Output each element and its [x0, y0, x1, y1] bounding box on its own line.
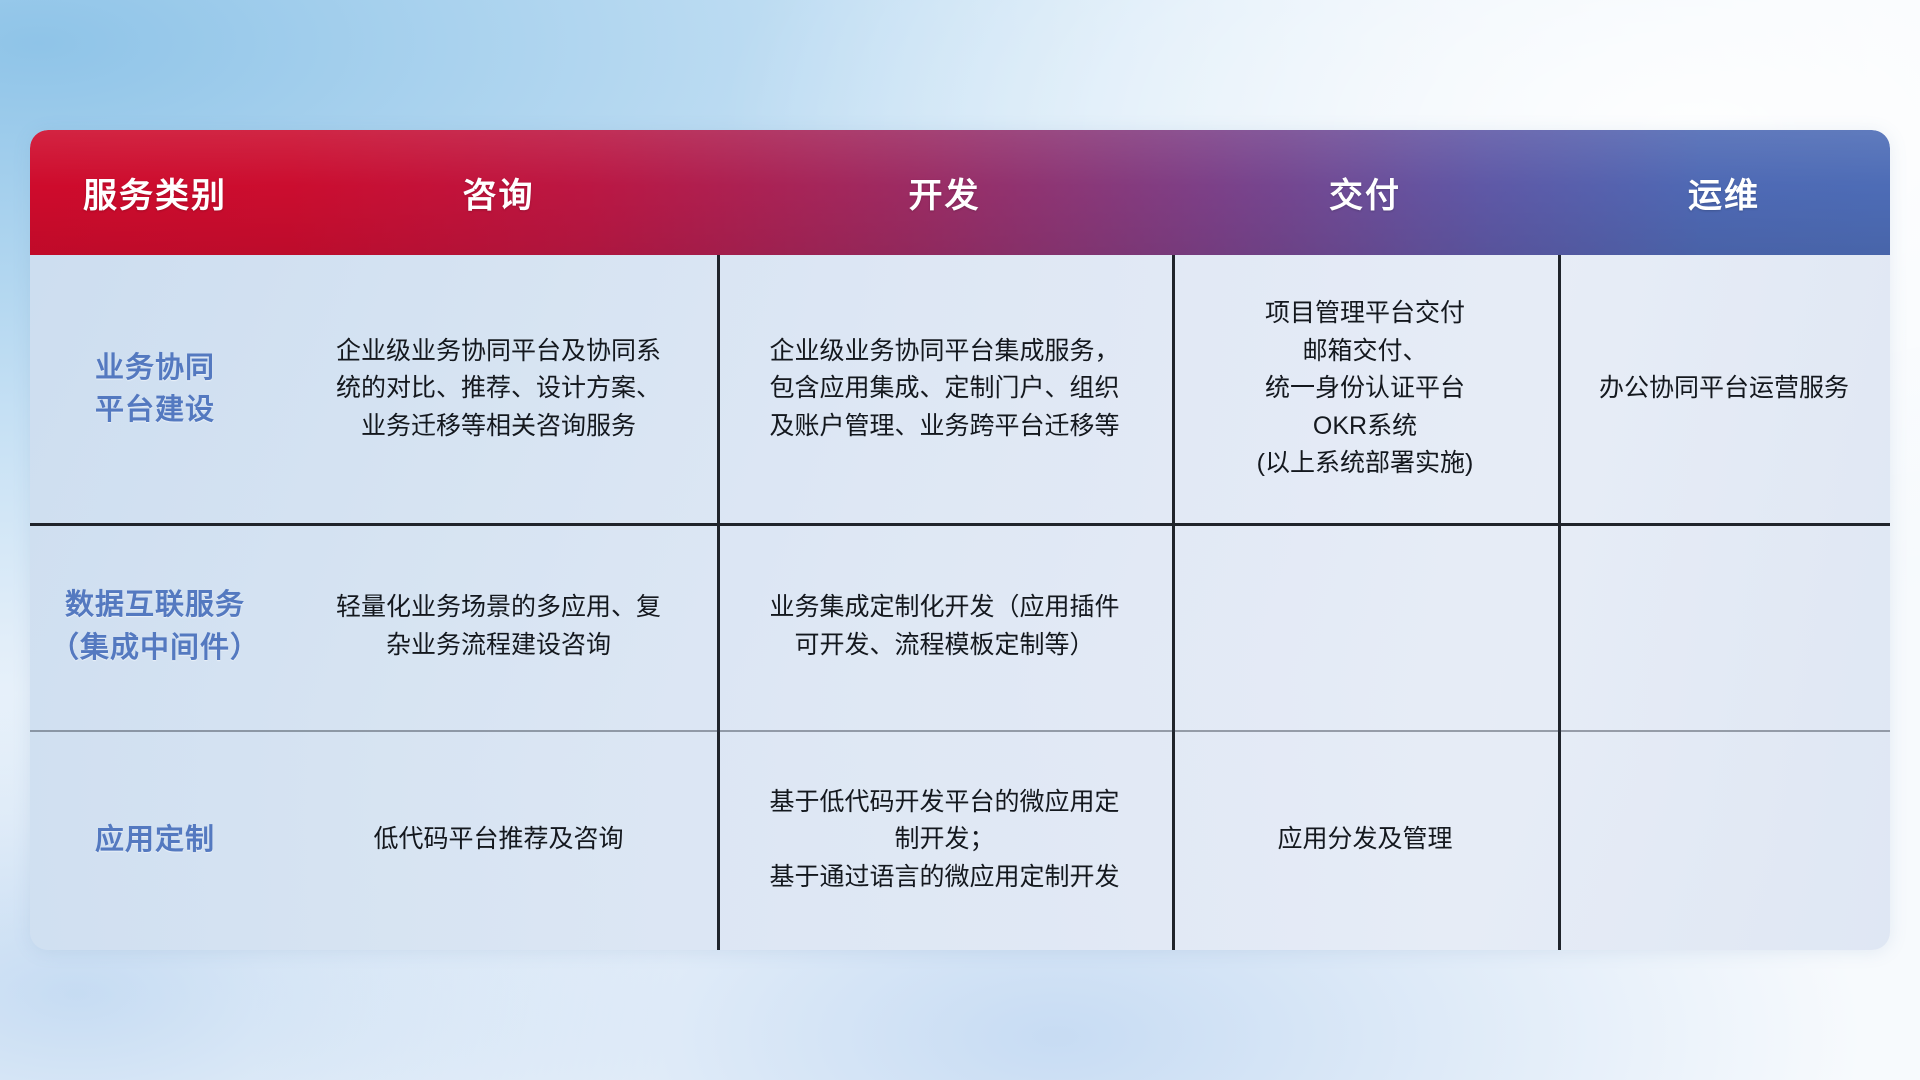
cell-consulting-row2: 轻量化业务场景的多应用、复 杂业务流程建设咨询	[280, 589, 717, 664]
cell-delivery-row2	[1172, 626, 1558, 627]
column-header-category: 服务类别	[30, 168, 280, 217]
column-divider-consulting-development	[717, 255, 720, 950]
table-row: 数据互联服务 （集成中间件） 轻量化业务场景的多应用、复 杂业务流程建设咨询 业…	[30, 523, 1890, 730]
cell-consulting-row1: 企业级业务协同平台及协同系 统的对比、推荐、设计方案、 业务迁移等相关咨询服务	[280, 333, 717, 446]
cell-consulting-row3: 低代码平台推荐及咨询	[280, 821, 717, 859]
table-body: 业务协同 平台建设 企业级业务协同平台及协同系 统的对比、推荐、设计方案、 业务…	[30, 255, 1890, 950]
cell-development-row1: 企业级业务协同平台集成服务， 包含应用集成、定制门户、组织 及账户管理、业务跨平…	[717, 333, 1172, 446]
service-matrix-table: 服务类别 咨询 开发 交付 运维 业务协同 平台建设 企业级业务协同平台及协同系…	[30, 130, 1890, 950]
row-label-data-interconnect: 数据互联服务 （集成中间件）	[30, 584, 280, 668]
cell-development-row2: 业务集成定制化开发（应用插件 可开发、流程模板定制等）	[717, 589, 1172, 664]
row-label-business-collaboration: 业务协同 平台建设	[30, 347, 280, 431]
column-header-operations: 运维	[1558, 168, 1890, 217]
column-divider-development-delivery	[1172, 255, 1175, 950]
column-header-delivery: 交付	[1172, 168, 1558, 217]
row-divider-2	[30, 730, 1890, 732]
column-header-development: 开发	[717, 168, 1172, 217]
cell-operations-row2	[1558, 626, 1890, 627]
row-divider-1	[30, 523, 1890, 526]
cell-development-row3: 基于低代码开发平台的微应用定 制开发； 基于通过语言的微应用定制开发	[717, 784, 1172, 897]
column-header-consulting: 咨询	[280, 168, 717, 217]
cell-delivery-row1: 项目管理平台交付 邮箱交付、 统一身份认证平台 OKR系统 (以上系统部署实施)	[1172, 295, 1558, 483]
cell-operations-row1: 办公协同平台运营服务	[1558, 370, 1890, 408]
table-row: 业务协同 平台建设 企业级业务协同平台及协同系 统的对比、推荐、设计方案、 业务…	[30, 255, 1890, 523]
table-header-row: 服务类别 咨询 开发 交付 运维	[30, 130, 1890, 255]
column-divider-delivery-operations	[1558, 255, 1561, 950]
cell-delivery-row3: 应用分发及管理	[1172, 821, 1558, 859]
row-label-app-customization: 应用定制	[30, 819, 280, 861]
table-row: 应用定制 低代码平台推荐及咨询 基于低代码开发平台的微应用定 制开发； 基于通过…	[30, 730, 1890, 950]
cell-operations-row3	[1558, 840, 1890, 841]
